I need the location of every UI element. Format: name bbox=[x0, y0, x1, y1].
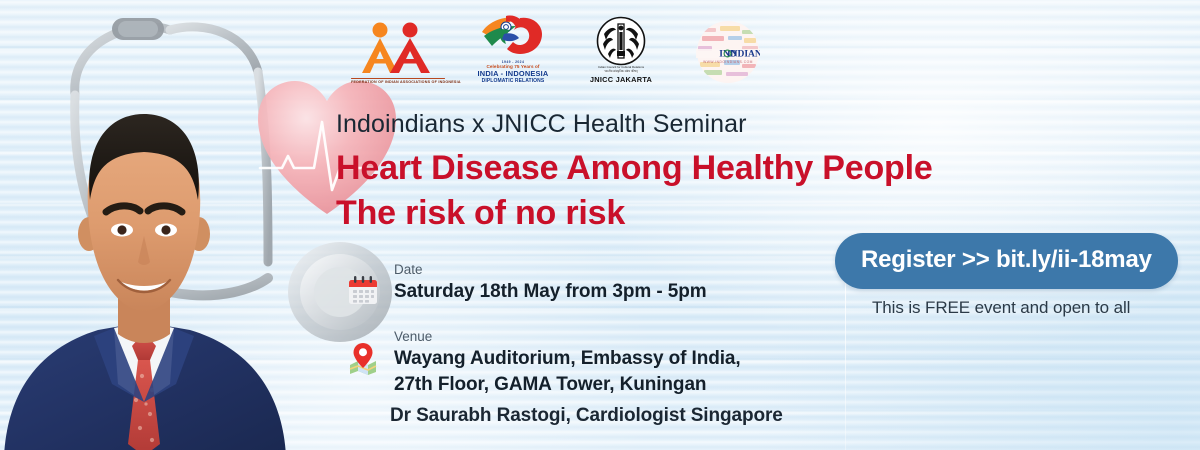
logo-75-line2: INDIA - INDONESIA bbox=[470, 69, 556, 78]
indoindians-wordcloud-icon: IND INDIANS WWW.INDOINDIANS.COM bbox=[696, 20, 760, 84]
logo-indoindians: IND INDIANS WWW.INDOINDIANS.COM bbox=[686, 20, 770, 84]
date-value: Saturday 18th May from 3pm - 5pm bbox=[394, 280, 707, 305]
seventy-five-years-mark-icon bbox=[476, 12, 550, 60]
logo-75-line3: DIPLOMATIC RELATIONS bbox=[470, 78, 556, 84]
seminar-subtitle: Indoindians x JNICC Health Seminar bbox=[336, 110, 747, 139]
free-event-note: This is FREE event and open to all bbox=[872, 298, 1130, 318]
fiai-mark-icon bbox=[352, 21, 444, 77]
logo-federation-indian-associations: FEDERATION OF INDIAN ASSOCIATIONS OF IND… bbox=[352, 21, 444, 84]
event-details: Date Saturday 18th May from 3pm - 5pm Ve… bbox=[346, 262, 816, 397]
venue-value-line-1: Wayang Auditorium, Embassy of India, bbox=[394, 347, 741, 372]
doctor-portrait-photo bbox=[0, 84, 334, 450]
partner-logos: FEDERATION OF INDIAN ASSOCIATIONS OF IND… bbox=[352, 12, 770, 84]
register-button[interactable]: Register >> bit.ly/ii-18may bbox=[835, 233, 1178, 289]
jnicc-subtitle-hi: भारतीय सांस्कृतिक संबंध परिषद् bbox=[582, 70, 660, 74]
map-pin-icon bbox=[346, 329, 384, 380]
jnicc-title: JNICC JAKARTA bbox=[582, 75, 660, 84]
svg-text:INDIANS: INDIANS bbox=[727, 50, 760, 60]
venue-label: Venue bbox=[394, 329, 741, 346]
jnicc-emblem-icon bbox=[596, 16, 646, 66]
fiai-caption: FEDERATION OF INDIAN ASSOCIATIONS OF IND… bbox=[351, 78, 445, 84]
event-banner: FEDERATION OF INDIAN ASSOCIATIONS OF IND… bbox=[0, 0, 1200, 450]
venue-row: Venue Wayang Auditorium, Embassy of Indi… bbox=[346, 329, 816, 397]
page-title: Heart Disease Among Healthy People The r… bbox=[336, 146, 933, 236]
logo-india-indonesia-75: 1949 - 2024 Celebrating 75 Years of INDI… bbox=[470, 12, 556, 84]
calendar-icon bbox=[346, 262, 384, 313]
date-row: Date Saturday 18th May from 3pm - 5pm bbox=[346, 262, 816, 313]
speaker-name: Dr Saurabh Rastogi, Cardiologist Singapo… bbox=[390, 405, 783, 427]
date-label: Date bbox=[394, 262, 707, 279]
svg-text:WWW.INDOINDIANS.COM: WWW.INDOINDIANS.COM bbox=[703, 60, 753, 64]
venue-value-line-2: 27th Floor, GAMA Tower, Kuningan bbox=[394, 373, 741, 398]
title-line-1: Heart Disease Among Healthy People bbox=[336, 149, 933, 187]
title-line-2: The risk of no risk bbox=[336, 191, 933, 236]
logo-jnicc-jakarta: Indian Council for Cultural Relations भा… bbox=[582, 16, 660, 84]
